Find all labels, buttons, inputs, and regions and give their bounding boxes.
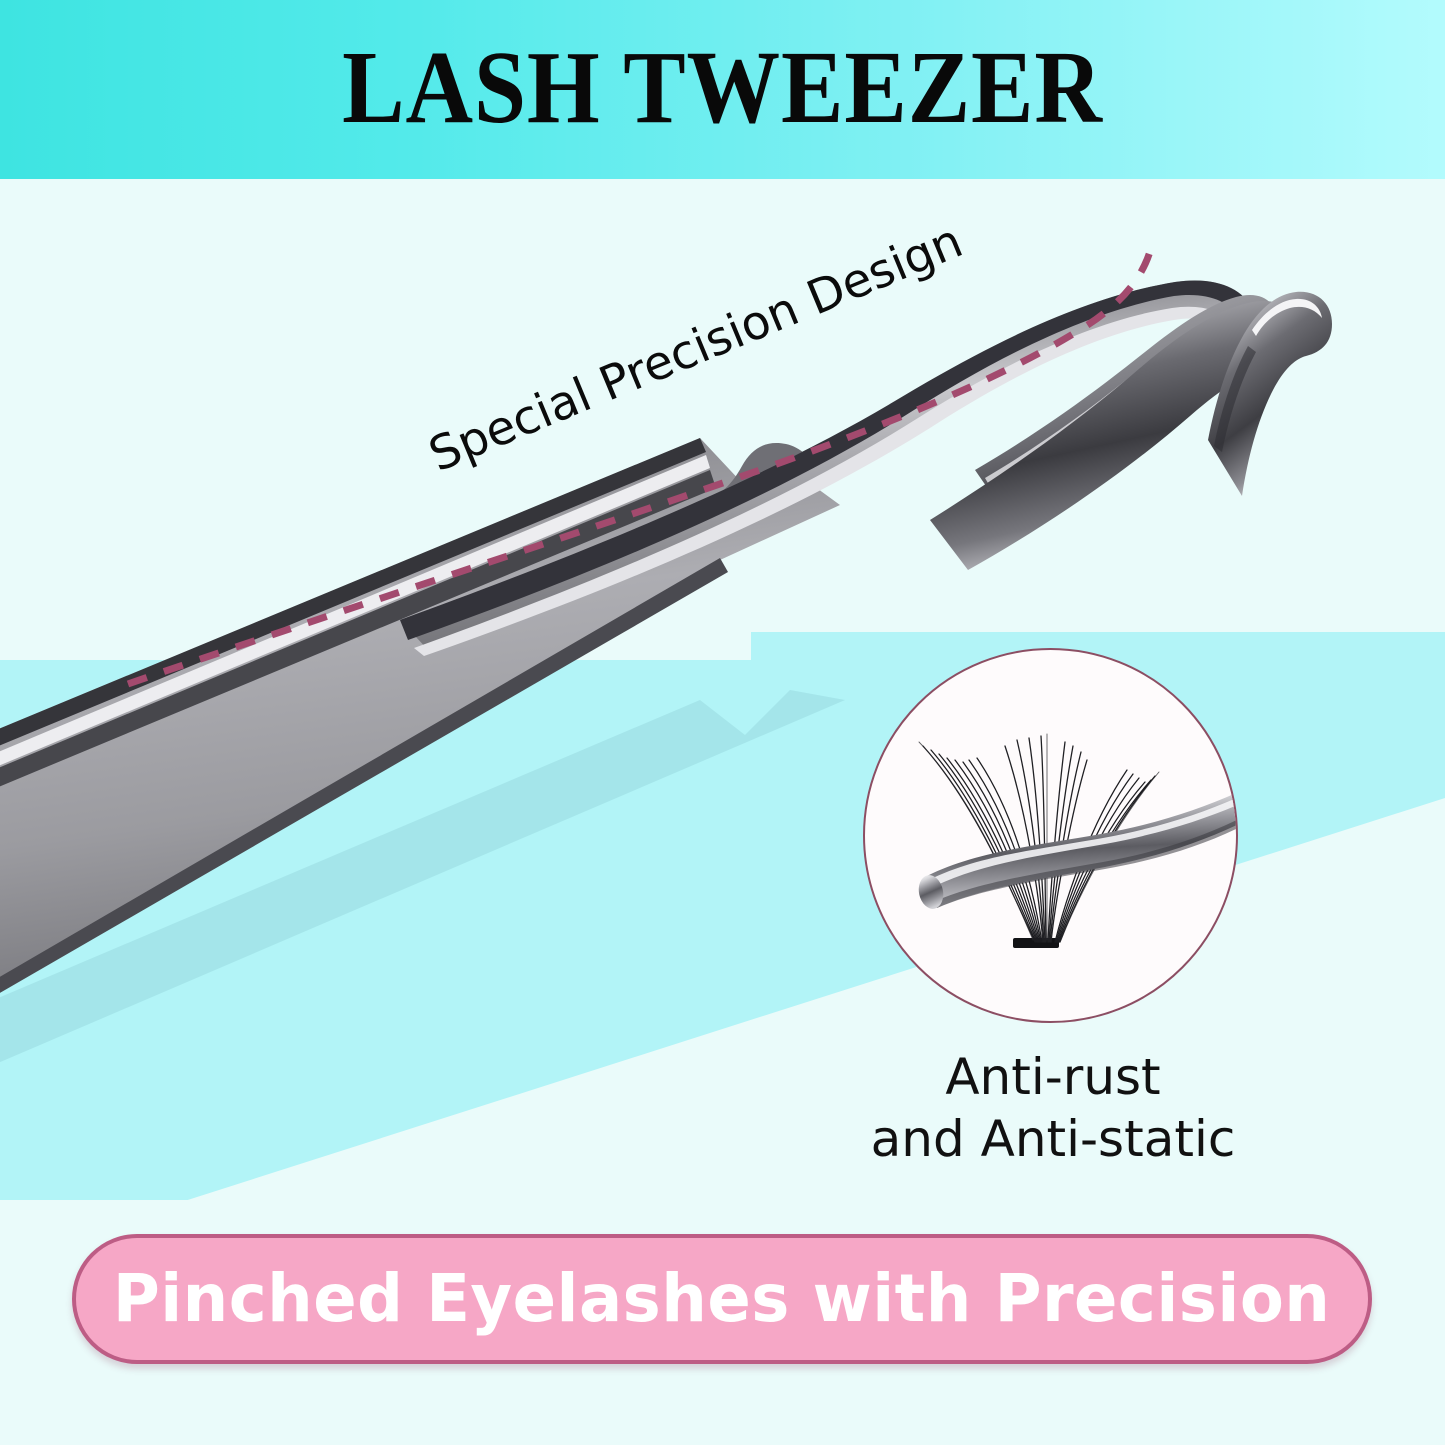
feature-caption-line-1: Anti-rust: [838, 1046, 1268, 1108]
page-title: LASH TWEEZER: [72, 36, 1373, 140]
background-cyan-band-step: [0, 632, 751, 660]
product-poster: LASH TWEEZER: [0, 0, 1445, 1445]
lash-fan-illustration: [865, 650, 1238, 1023]
lash-fan-inset: [863, 648, 1238, 1023]
bottom-banner-text: Pinched Eyelashes with Precision: [113, 1264, 1331, 1334]
feature-caption-line-2: and Anti-static: [838, 1108, 1268, 1170]
bottom-banner: Pinched Eyelashes with Precision: [72, 1234, 1372, 1364]
feature-caption: Anti-rust and Anti-static: [838, 1046, 1268, 1170]
